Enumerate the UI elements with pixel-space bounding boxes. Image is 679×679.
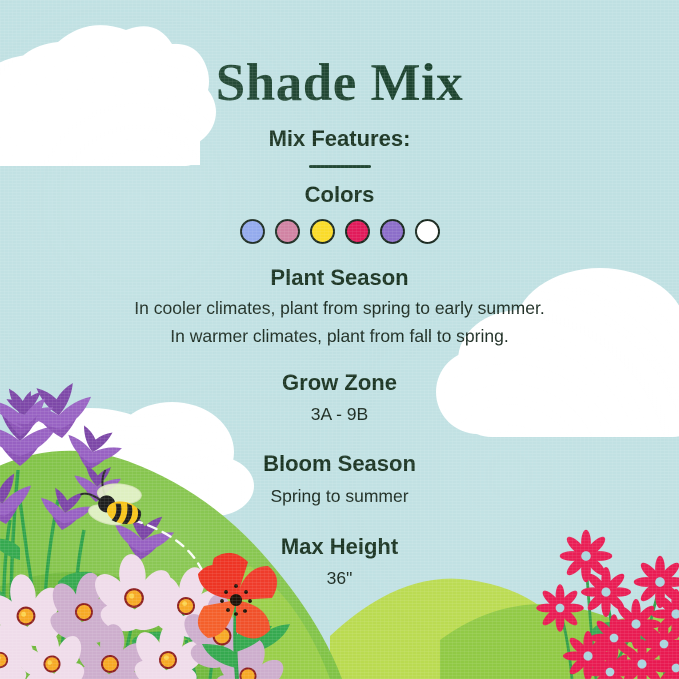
daisy-cluster-right	[536, 530, 679, 679]
foreground-illustration	[0, 0, 679, 679]
lupine-flower-4	[61, 422, 125, 476]
seed-packet: Shade Mix Mix Features: Colors Plant Sea…	[0, 0, 679, 679]
daisy-flower-4	[536, 584, 584, 632]
